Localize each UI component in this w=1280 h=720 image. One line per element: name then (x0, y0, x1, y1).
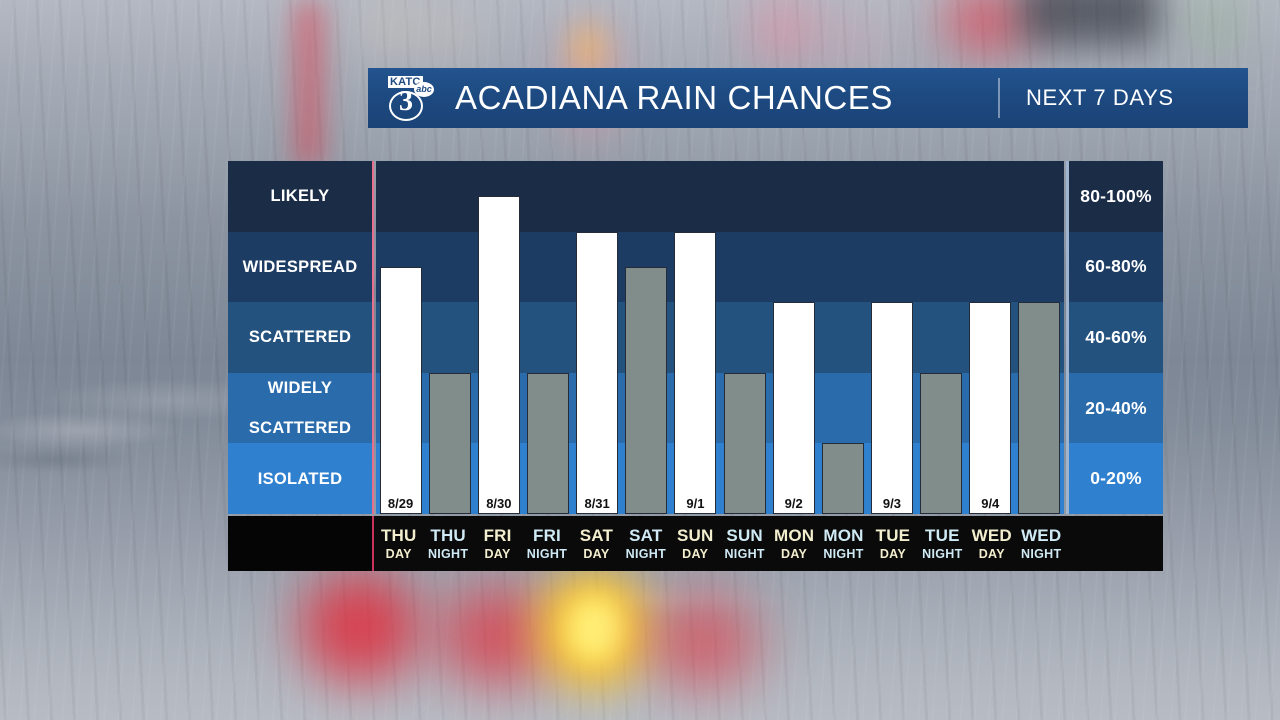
bar-date-label: 9/3 (883, 496, 901, 511)
day-abbreviation: TUE (925, 526, 960, 546)
day-abbreviation: MON (823, 526, 863, 546)
day-abbreviation: FRI (484, 526, 512, 546)
day-abbreviation: THU (381, 526, 417, 546)
percent-range-label: 80-100% (1069, 161, 1163, 232)
day-axis-cell: FRINIGHT (522, 516, 571, 571)
percent-range-label: 0-20% (1069, 443, 1163, 514)
chart-bar[interactable] (625, 267, 667, 514)
day-part-label: NIGHT (1021, 547, 1061, 561)
category-label: WIDESPREAD (228, 232, 372, 303)
percent-range-label: 40-60% (1069, 302, 1163, 373)
bar-slot: 8/29 (376, 161, 425, 514)
bar-slot: 9/4 (966, 161, 1015, 514)
day-part-label: DAY (979, 547, 1005, 561)
day-axis-cell: MONNIGHT (819, 516, 868, 571)
bar-slot: 9/2 (769, 161, 818, 514)
day-part-label: DAY (386, 547, 412, 561)
chart-bar[interactable]: 8/30 (478, 196, 520, 514)
day-part-label: DAY (880, 547, 906, 561)
chart-bar[interactable]: 9/3 (871, 302, 913, 514)
day-part-label: NIGHT (823, 547, 863, 561)
chart-bar[interactable] (429, 373, 471, 514)
day-part-label: NIGHT (428, 547, 468, 561)
day-axis-cell: WEDNIGHT (1016, 516, 1065, 571)
chart-bar[interactable] (527, 373, 569, 514)
bar-slot (425, 161, 474, 514)
day-axis-left-pad (228, 516, 374, 571)
chart-bar[interactable] (920, 373, 962, 514)
bar-slot: 9/1 (671, 161, 720, 514)
day-abbreviation: WED (1021, 526, 1061, 546)
chart-bar[interactable]: 9/1 (674, 232, 716, 514)
category-axis-labels: LIKELYWIDESPREADSCATTEREDWIDELYSCATTERED… (228, 161, 374, 514)
day-abbreviation: THU (430, 526, 466, 546)
chart-bar[interactable] (1018, 302, 1060, 514)
bar-slot (720, 161, 769, 514)
day-axis-cell: MONDAY (769, 516, 818, 571)
header-subtitle: NEXT 7 DAYS (1000, 85, 1248, 111)
chart-bar[interactable]: 8/29 (380, 267, 422, 514)
day-part-label: NIGHT (724, 547, 764, 561)
logo-network-text: abc (414, 82, 434, 97)
day-axis-cells: THUDAYTHUNIGHTFRIDAYFRINIGHTSATDAYSATNIG… (374, 516, 1066, 571)
graphic-header: KATC 3 abc ACADIANA RAIN CHANCES NEXT 7 … (368, 68, 1248, 128)
chart-bar[interactable] (724, 373, 766, 514)
day-axis-right-pad (1066, 516, 1163, 571)
katc-3-logo-icon: KATC 3 abc (387, 75, 433, 121)
day-part-label: DAY (583, 547, 609, 561)
day-abbreviation: FRI (533, 526, 561, 546)
page-title: ACADIANA RAIN CHANCES (455, 79, 893, 117)
day-axis-cell: THUNIGHT (423, 516, 472, 571)
day-axis-cell: TUEDAY (868, 516, 917, 571)
bar-date-label: 9/4 (981, 496, 999, 511)
bar-slot: 8/31 (573, 161, 622, 514)
day-part-label: DAY (781, 547, 807, 561)
day-axis-strip: THUDAYTHUNIGHTFRIDAYFRINIGHTSATDAYSATNIG… (228, 516, 1163, 571)
day-part-label: DAY (682, 547, 708, 561)
day-axis-cell: FRIDAY (473, 516, 522, 571)
day-part-label: NIGHT (922, 547, 962, 561)
chart-bar[interactable] (822, 443, 864, 514)
day-part-label: NIGHT (626, 547, 666, 561)
rain-chance-chart: LIKELYWIDESPREADSCATTEREDWIDELYSCATTERED… (228, 161, 1163, 571)
day-abbreviation: SUN (726, 526, 763, 546)
bar-date-label: 8/29 (388, 496, 413, 511)
day-abbreviation: WED (972, 526, 1012, 546)
percent-range-label: 20-40% (1069, 373, 1163, 444)
day-axis-cell: SUNDAY (671, 516, 720, 571)
day-axis-cell: SATNIGHT (621, 516, 670, 571)
percent-axis-labels: 80-100%60-80%40-60%20-40%0-20% (1066, 161, 1163, 514)
bar-slot: 8/30 (474, 161, 523, 514)
day-axis-cell: WEDDAY (967, 516, 1016, 571)
bar-date-label: 8/30 (486, 496, 511, 511)
weather-graphic: KATC 3 abc ACADIANA RAIN CHANCES NEXT 7 … (0, 0, 1280, 720)
chart-bars: 8/298/308/319/19/29/39/4 (376, 161, 1064, 514)
bar-slot: 9/3 (867, 161, 916, 514)
bar-slot (917, 161, 966, 514)
category-label: SCATTERED (228, 302, 372, 373)
bar-slot (622, 161, 671, 514)
chart-bar[interactable]: 9/2 (773, 302, 815, 514)
day-abbreviation: MON (774, 526, 814, 546)
bar-date-label: 9/1 (686, 496, 704, 511)
chart-bar[interactable]: 9/4 (969, 302, 1011, 514)
bar-slot (1015, 161, 1064, 514)
day-abbreviation: TUE (876, 526, 911, 546)
day-abbreviation: SUN (677, 526, 714, 546)
day-axis-cell: SATDAY (572, 516, 621, 571)
day-axis-cell: THUDAY (374, 516, 423, 571)
day-axis-cell: TUENIGHT (918, 516, 967, 571)
category-label: LIKELY (228, 161, 372, 232)
bar-slot (523, 161, 572, 514)
percent-range-label: 60-80% (1069, 232, 1163, 303)
day-abbreviation: SAT (580, 526, 613, 546)
category-label: WIDELYSCATTERED (228, 373, 372, 444)
bar-date-label: 8/31 (584, 496, 609, 511)
bar-slot (818, 161, 867, 514)
day-part-label: NIGHT (527, 547, 567, 561)
day-part-label: DAY (484, 547, 510, 561)
day-abbreviation: SAT (629, 526, 662, 546)
bar-date-label: 9/2 (785, 496, 803, 511)
day-axis-cell: SUNNIGHT (720, 516, 769, 571)
chart-bar[interactable]: 8/31 (576, 232, 618, 514)
category-label: ISOLATED (228, 443, 372, 514)
